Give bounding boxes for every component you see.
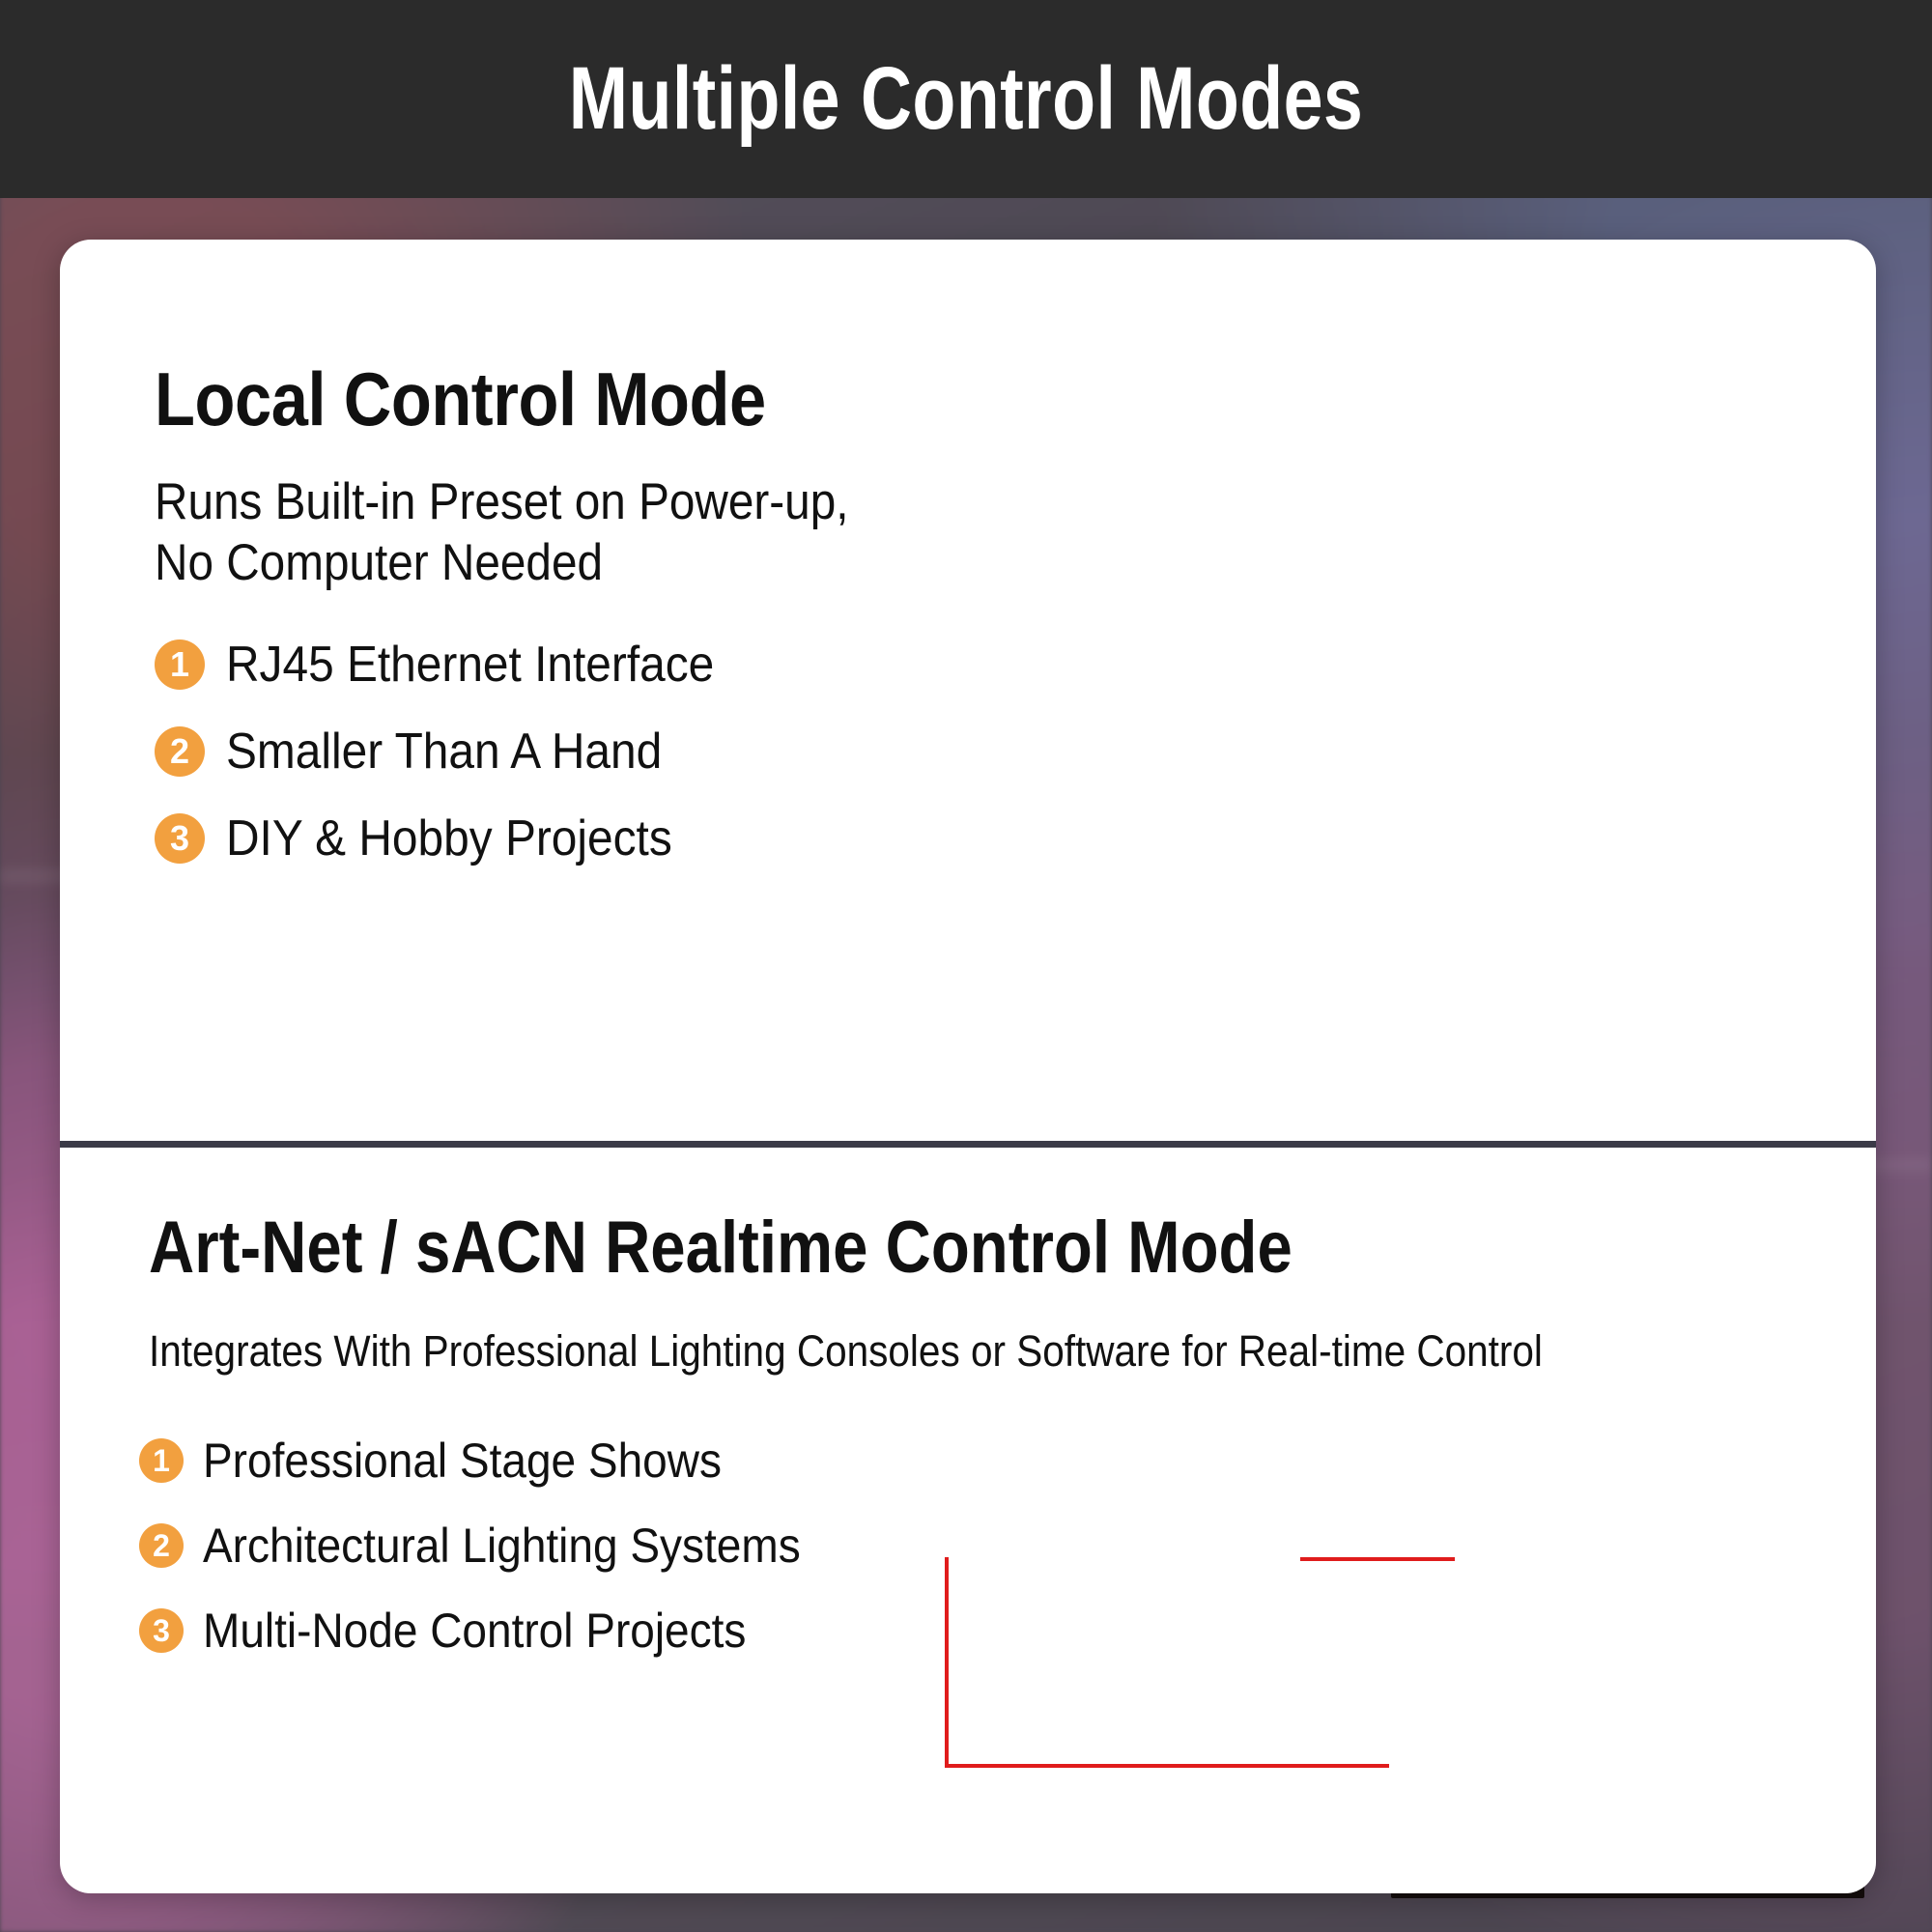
section1-subtitle-line2: No Computer Needed bbox=[155, 533, 937, 594]
bullet-number-badge: 3 bbox=[155, 813, 205, 864]
section1-subtitle: Runs Built-in Preset on Power-up, No Com… bbox=[155, 472, 937, 593]
section2-bullet-list: 1 Professional Stage Shows 2 Architectur… bbox=[139, 1433, 1849, 1659]
connection-line bbox=[945, 1764, 1389, 1768]
section-divider bbox=[60, 1141, 1876, 1148]
bullet-number-badge: 1 bbox=[155, 639, 205, 690]
bullet-label: Multi-Node Control Projects bbox=[203, 1603, 746, 1659]
list-item: 1 Professional Stage Shows bbox=[139, 1433, 1849, 1489]
connection-line bbox=[945, 1557, 949, 1768]
list-item: 3 Multi-Node Control Projects bbox=[139, 1603, 1849, 1659]
content-card: Local Control Mode Runs Built-in Preset … bbox=[60, 240, 1876, 1893]
bullet-number-badge: 1 bbox=[139, 1438, 184, 1483]
page-header: Multiple Control Modes bbox=[0, 0, 1932, 198]
bullet-number-badge: 2 bbox=[139, 1523, 184, 1568]
list-item: 2 Smaller Than A Hand bbox=[155, 723, 1024, 781]
list-item: 1 RJ45 Ethernet Interface bbox=[155, 636, 1024, 694]
section2-subtitle: Integrates With Professional Lighting Co… bbox=[149, 1326, 1679, 1377]
page-title: Multiple Control Modes bbox=[569, 48, 1363, 150]
list-item: 2 Architectural Lighting Systems bbox=[139, 1518, 1849, 1574]
section2-title: Art-Net / sACN Realtime Control Mode bbox=[149, 1206, 1611, 1290]
bullet-label: DIY & Hobby Projects bbox=[226, 810, 672, 867]
bullet-label: Architectural Lighting Systems bbox=[203, 1518, 801, 1574]
bullet-number-badge: 3 bbox=[139, 1608, 184, 1653]
bullet-number-badge: 2 bbox=[155, 726, 205, 777]
bullet-label: RJ45 Ethernet Interface bbox=[226, 636, 714, 694]
section1-subtitle-line1: Runs Built-in Preset on Power-up, bbox=[155, 472, 937, 533]
connection-line bbox=[1300, 1557, 1455, 1561]
local-control-section: Local Control Mode Runs Built-in Preset … bbox=[155, 355, 1024, 896]
bullet-label: Smaller Than A Hand bbox=[226, 723, 662, 781]
section1-bullet-list: 1 RJ45 Ethernet Interface 2 Smaller Than… bbox=[155, 636, 1024, 867]
artnet-section: Art-Net / sACN Realtime Control Mode Int… bbox=[149, 1206, 1849, 1688]
section1-title: Local Control Mode bbox=[155, 355, 920, 443]
list-item: 3 DIY & Hobby Projects bbox=[155, 810, 1024, 867]
bullet-label: Professional Stage Shows bbox=[203, 1433, 722, 1489]
